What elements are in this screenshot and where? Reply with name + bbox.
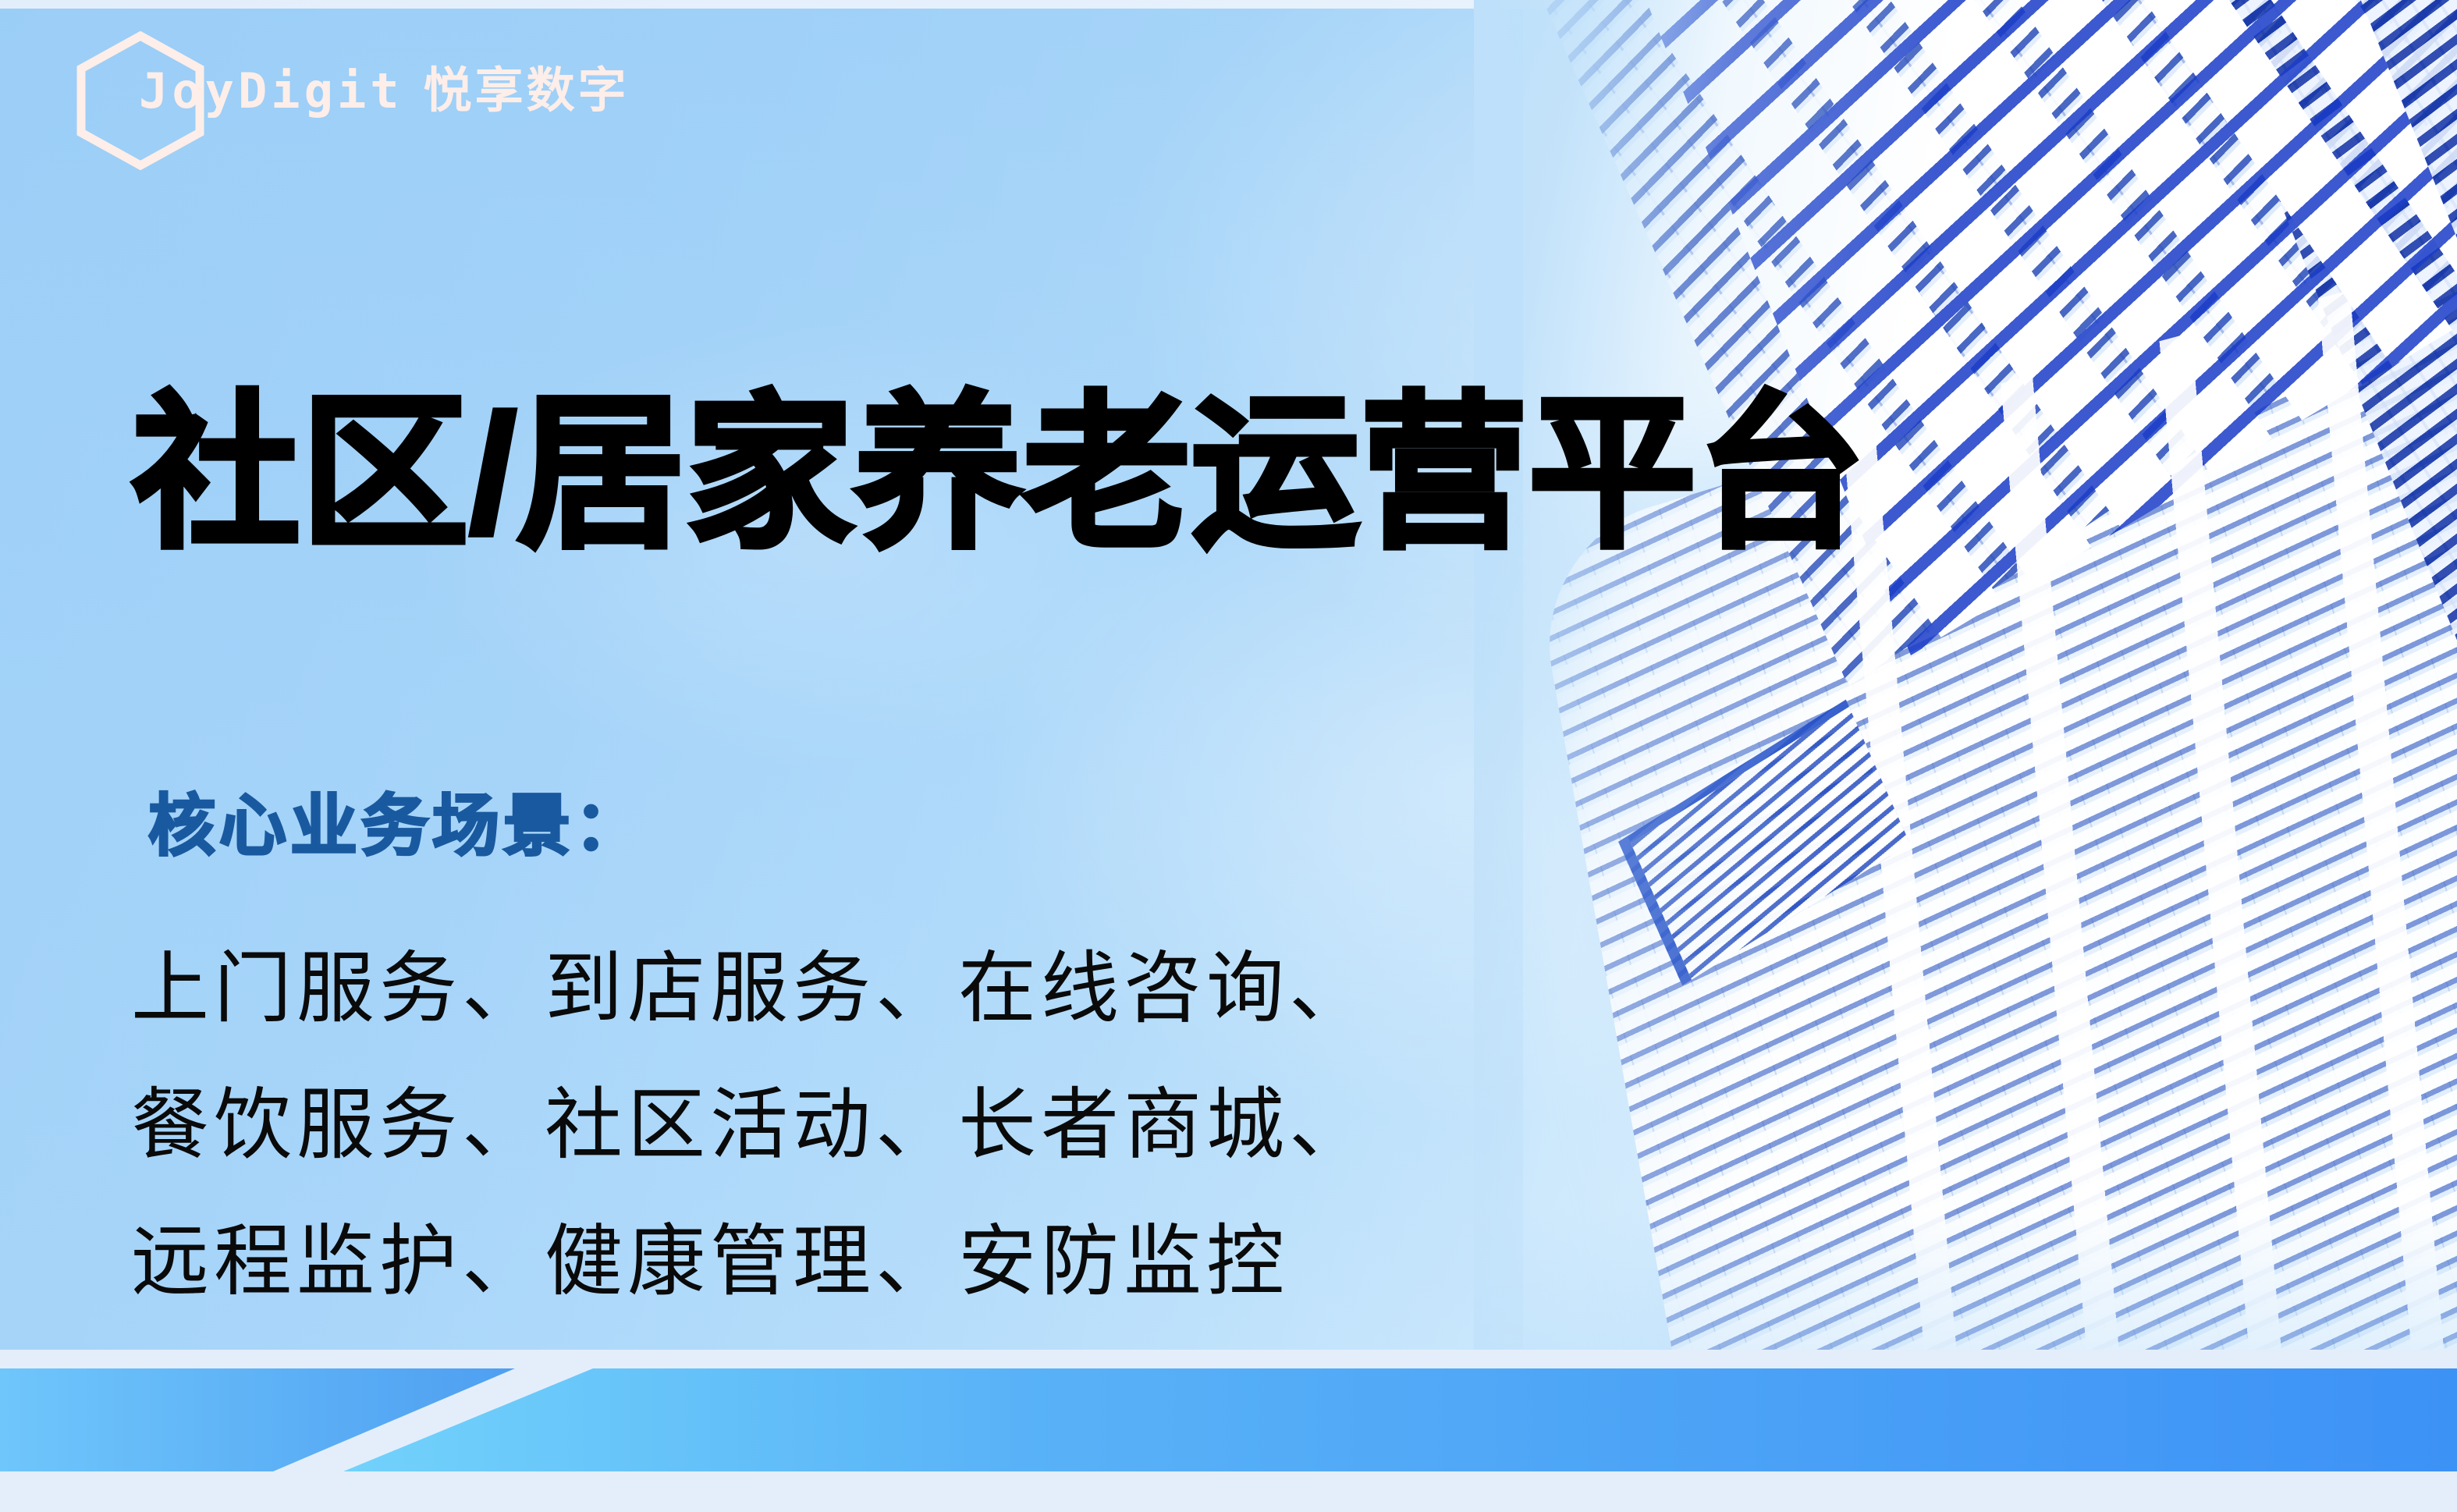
scenario-list: 上门服务、到店服务、在线咨询、 餐饮服务、社区活动、长者商城、 远程监护、健康管… bbox=[131, 921, 1372, 1330]
brand-wordmark: JoyDigit bbox=[139, 67, 403, 115]
scenario-line: 远程监护、健康管理、安防监控 bbox=[131, 1194, 1372, 1330]
scenario-line: 餐饮服务、社区活动、长者商城、 bbox=[131, 1057, 1372, 1194]
footer-decoration bbox=[0, 1350, 2457, 1512]
top-edge-strip bbox=[0, 0, 2457, 9]
footer-band-right bbox=[343, 1368, 2457, 1471]
slide-canvas: JoyDigit 悦享数字 社区/居家养老运营平台 核心业务场景： 上门服务、到… bbox=[0, 0, 2457, 1512]
scenario-line: 上门服务、到店服务、在线咨询、 bbox=[131, 921, 1372, 1057]
brand-chinese-name: 悦享数字 bbox=[424, 67, 630, 115]
brand-logo[interactable]: JoyDigit 悦享数字 bbox=[139, 67, 630, 115]
section-label: 核心业务场景： bbox=[148, 790, 645, 864]
page-title: 社区/居家养老运营平台 bbox=[133, 386, 1866, 563]
